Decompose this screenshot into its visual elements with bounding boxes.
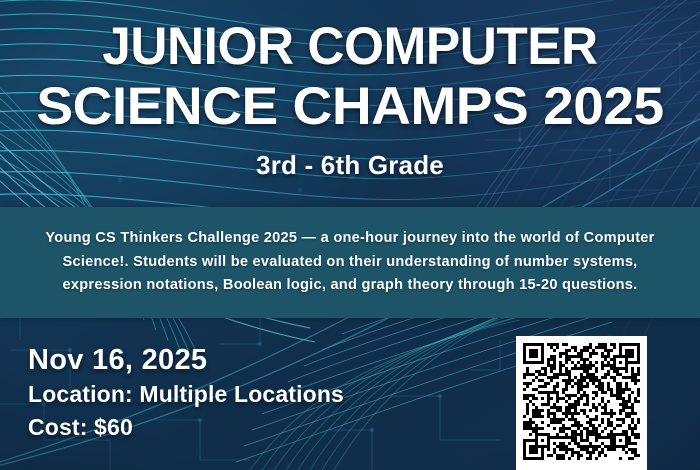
qr-code[interactable] [516, 336, 647, 470]
poster-headline: JUNIOR COMPUTER SCIENCE CHAMPS 2025 3rd … [0, 20, 700, 181]
description-text: Young CS Thinkers Challenge 2025 — a one… [0, 227, 700, 298]
qr-code-image [523, 343, 640, 463]
event-cost: Cost: $60 [28, 412, 344, 442]
grade-range-subtitle: 3rd - 6th Grade [0, 150, 700, 181]
event-poster: JUNIOR COMPUTER SCIENCE CHAMPS 2025 3rd … [0, 0, 700, 470]
page-title-line-1: JUNIOR COMPUTER [11, 20, 690, 73]
event-details: Nov 16, 2025 Location: Multiple Location… [28, 344, 344, 442]
page-title-line-2: SCIENCE CHAMPS 2025 [0, 80, 700, 133]
event-date: Nov 16, 2025 [28, 344, 344, 377]
event-location: Location: Multiple Locations [28, 379, 344, 409]
description-band: Young CS Thinkers Challenge 2025 — a one… [0, 207, 700, 318]
